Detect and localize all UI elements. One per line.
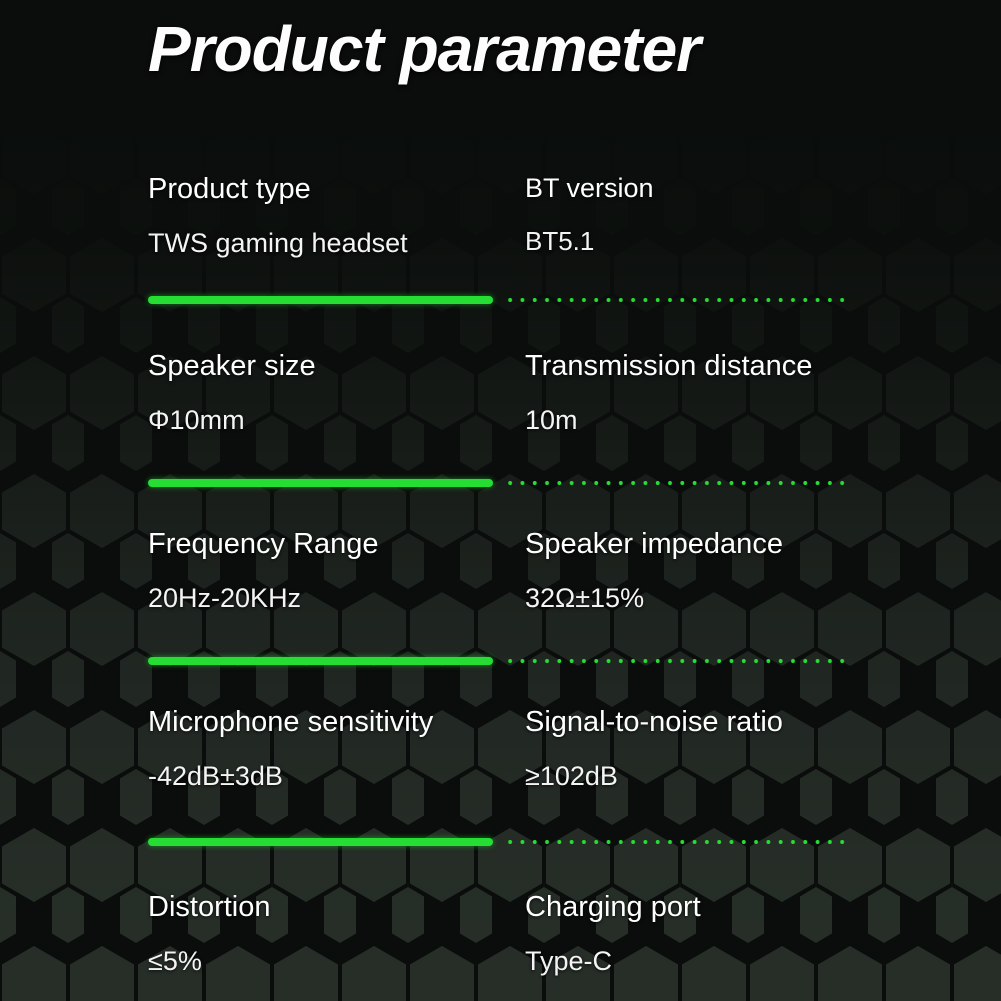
parameter-cell-right: Charging port Type-C xyxy=(525,893,701,975)
parameter-value: TWS gaming headset xyxy=(148,230,408,257)
parameter-cell-left: Frequency Range 20Hz-20KHz xyxy=(148,530,379,612)
parameter-value: -42dB±3dB xyxy=(148,763,433,790)
row-divider-solid xyxy=(148,479,493,487)
parameter-cell-right: BT version BT5.1 xyxy=(525,175,654,254)
parameter-cell-left: Product type TWS gaming headset xyxy=(148,175,408,257)
parameter-label: Charging port xyxy=(525,893,701,922)
parameter-label: Speaker size xyxy=(148,352,316,381)
parameter-value: BT5.1 xyxy=(525,228,654,254)
row-divider-solid xyxy=(148,657,493,665)
parameter-cell-right: Signal-to-noise ratio ≥102dB xyxy=(525,708,783,790)
row-divider-dotted xyxy=(504,296,847,304)
parameter-label: Distortion xyxy=(148,893,271,922)
parameter-value: ≤5% xyxy=(148,948,271,975)
parameter-label: BT version xyxy=(525,175,654,202)
parameter-grid: Product type TWS gaming headset BT versi… xyxy=(0,0,1001,1001)
row-divider-dotted xyxy=(504,657,847,665)
row-divider-solid xyxy=(148,296,493,304)
parameter-label: Frequency Range xyxy=(148,530,379,559)
parameter-label: Signal-to-noise ratio xyxy=(525,708,783,737)
parameter-label: Speaker impedance xyxy=(525,530,783,559)
row-divider-dotted xyxy=(504,838,847,846)
row-divider-dotted xyxy=(504,479,847,487)
parameter-label: Microphone sensitivity xyxy=(148,708,433,737)
parameter-cell-left: Microphone sensitivity -42dB±3dB xyxy=(148,708,433,790)
parameter-label: Product type xyxy=(148,175,408,204)
parameter-cell-right: Speaker impedance 32Ω±15% xyxy=(525,530,783,612)
parameter-value: 32Ω±15% xyxy=(525,585,783,612)
parameter-cell-right: Transmission distance 10m xyxy=(525,352,812,434)
parameter-value: 10m xyxy=(525,407,812,434)
parameter-cell-left: Distortion ≤5% xyxy=(148,893,271,975)
parameter-label: Transmission distance xyxy=(525,352,812,381)
product-parameter-page: Product parameter Product type TWS gamin… xyxy=(0,0,1001,1001)
parameter-value: Φ10mm xyxy=(148,407,316,434)
parameter-value: 20Hz-20KHz xyxy=(148,585,379,612)
parameter-cell-left: Speaker size Φ10mm xyxy=(148,352,316,434)
row-divider-solid xyxy=(148,838,493,846)
parameter-value: ≥102dB xyxy=(525,763,783,790)
parameter-value: Type-C xyxy=(525,948,701,975)
